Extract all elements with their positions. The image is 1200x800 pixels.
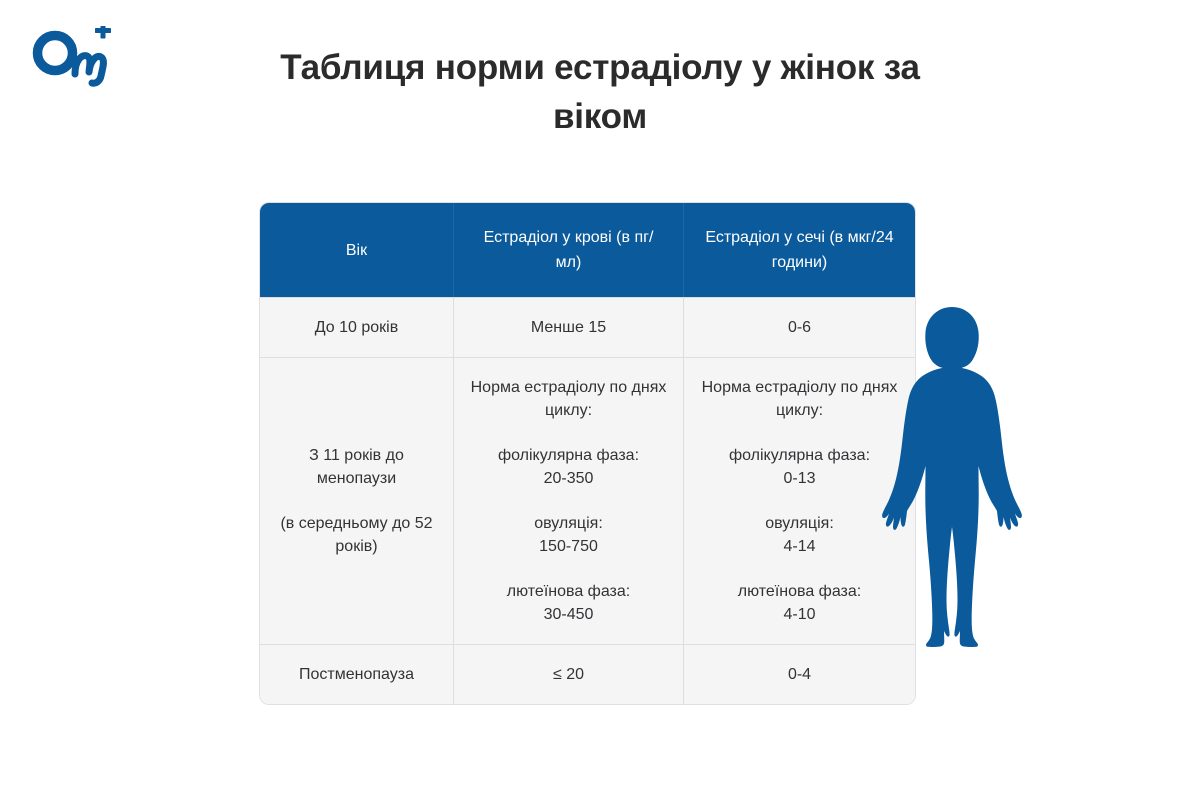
female-body-silhouette-icon (880, 305, 1025, 650)
column-header-blood: Естрадіол у крові (в пг/мл) (454, 203, 684, 297)
phase-label: овуляція: (698, 512, 901, 535)
blood-ovulation: овуляція: 150-750 (468, 512, 669, 558)
on-plus-logo-icon (30, 26, 120, 88)
table-row: З 11 років до менопаузи (в середньому до… (260, 357, 915, 644)
phase-value: 20-350 (468, 467, 669, 490)
phase-label: лютеїнова фаза: (698, 580, 901, 603)
estradiol-norms-table: Вік Естрадіол у крові (в пг/мл) Естрадіо… (260, 203, 915, 704)
cell-blood: Менше 15 (454, 297, 684, 357)
page-title: Таблиця норми естрадіолу у жінок за віко… (230, 43, 970, 141)
urine-luteal: лютеїнова фаза: 4-10 (698, 580, 901, 626)
phase-value: 150-750 (468, 535, 669, 558)
table-row: До 10 років Менше 15 0-6 (260, 297, 915, 357)
brand-logo[interactable] (30, 26, 120, 88)
table-header-row: Вік Естрадіол у крові (в пг/мл) Естрадіо… (260, 203, 915, 297)
phase-label: фолікулярна фаза: (698, 444, 901, 467)
phase-label: фолікулярна фаза: (468, 444, 669, 467)
urine-intro: Норма естрадіолу по днях циклу: (698, 376, 901, 422)
phase-value: 4-10 (698, 603, 901, 626)
urine-follicular: фолікулярна фаза: 0-13 (698, 444, 901, 490)
blood-follicular: фолікулярна фаза: 20-350 (468, 444, 669, 490)
age-range-note: (в середньому до 52 років) (274, 512, 439, 558)
urine-ovulation: овуляція: 4-14 (698, 512, 901, 558)
estradiol-norms-table-container: Вік Естрадіол у крові (в пг/мл) Естрадіо… (260, 203, 915, 704)
female-body-silhouette (880, 305, 1025, 650)
cell-urine: 0-4 (684, 644, 915, 704)
cell-blood: ≤ 20 (454, 644, 684, 704)
column-header-age: Вік (260, 203, 454, 297)
phase-value: 4-14 (698, 535, 901, 558)
column-header-urine: Естрадіол у сечі (в мкг/24 години) (684, 203, 915, 297)
phase-label: овуляція: (468, 512, 669, 535)
table-row: Постменопауза ≤ 20 0-4 (260, 644, 915, 704)
cell-age: Постменопауза (260, 644, 454, 704)
age-range-primary: З 11 років до менопаузи (274, 444, 439, 490)
cell-age: З 11 років до менопаузи (в середньому до… (260, 357, 454, 644)
blood-luteal: лютеїнова фаза: 30-450 (468, 580, 669, 626)
blood-intro: Норма естрадіолу по днях циклу: (468, 376, 669, 422)
phase-value: 0-13 (698, 467, 901, 490)
cell-age: До 10 років (260, 297, 454, 357)
phase-label: лютеїнова фаза: (468, 580, 669, 603)
phase-value: 30-450 (468, 603, 669, 626)
cell-blood: Норма естрадіолу по днях циклу: фолікуля… (454, 357, 684, 644)
